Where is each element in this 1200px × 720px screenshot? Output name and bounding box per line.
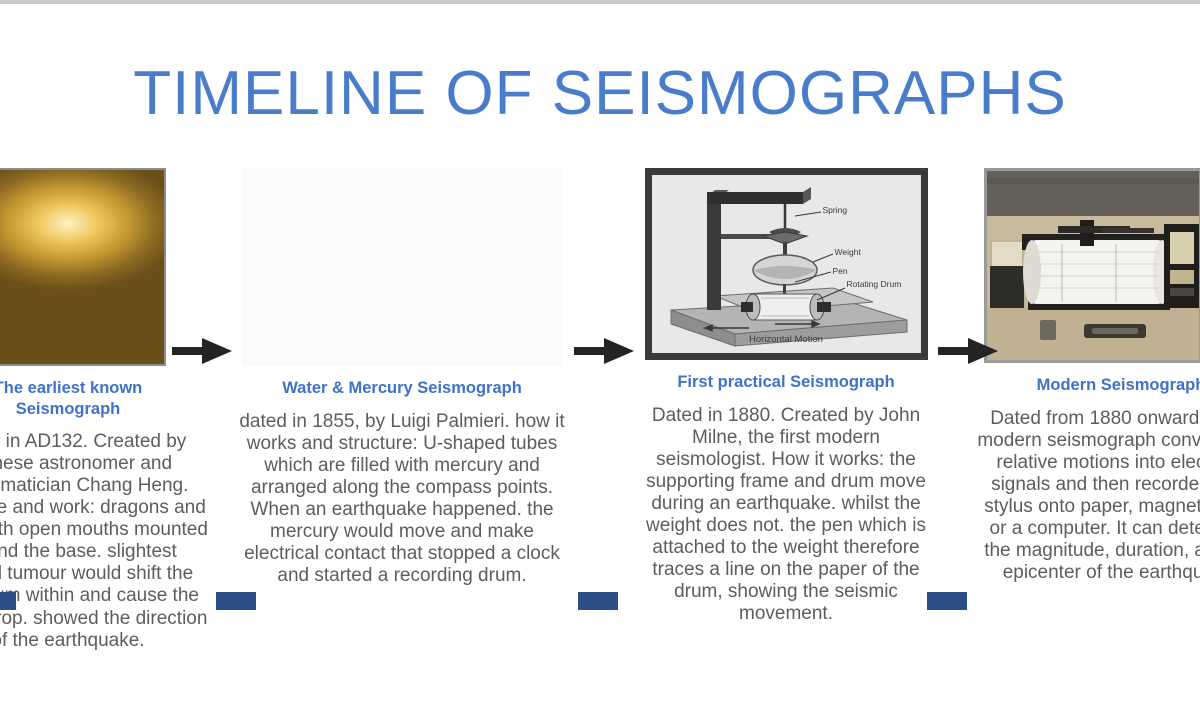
connector-block-2 <box>578 592 618 610</box>
arrow-right-icon-2 <box>574 336 636 366</box>
diagram-label-pen: Pen <box>833 266 848 276</box>
top-grey-bar <box>0 0 1200 4</box>
timeline-panel-modern-seismograph: Modern Seismograph Dated from 1880 onwar… <box>976 168 1200 584</box>
panel-body-text: Dated in 1880. Created by John Milne, th… <box>640 405 932 625</box>
arrow-right-icon-1 <box>172 336 234 366</box>
connector-block-1 <box>216 592 256 610</box>
milne-diagram-illustration <box>645 168 928 360</box>
diagram-caption-horizontal-motion: Horizontal Motion <box>645 334 928 345</box>
connector-block-0 <box>0 592 16 610</box>
modern-drum-seismograph-photo <box>984 168 1200 363</box>
drum-seismograph-illustration <box>984 168 1200 363</box>
diagram-label-weight: Weight <box>835 247 861 257</box>
palmieri-apparatus-engraving <box>242 168 562 366</box>
panel-title: Modern Seismograph <box>976 375 1200 396</box>
panel-body-text: dated in 1855, by Luigi Palmieri. how it… <box>232 411 572 587</box>
panel-body-text: Dated in AD132. Created by Chinese astro… <box>0 431 208 651</box>
timeline-slide: TIMELINE OF SEISMOGRAPHS <box>0 0 1200 720</box>
timeline-panel-water-mercury-seismograph: Water & Mercury Seismograph dated in 185… <box>232 168 572 587</box>
milne-seismograph-diagram: Spring Weight Pen Rotating Drum Horizont… <box>645 168 928 360</box>
timeline-panel-earliest-known-seismograph: The earliest known Seismograph Dated in … <box>0 168 208 652</box>
panel-body-text: Dated from 1880 onwards. The modern seis… <box>976 408 1200 584</box>
arrow-right-icon-3 <box>938 336 1000 366</box>
page-title: TIMELINE OF SEISMOGRAPHS <box>0 58 1200 129</box>
chinese-bronze-seismograph-photo <box>0 168 166 366</box>
photo-frame <box>0 168 166 366</box>
timeline-panel-first-practical-seismograph: Spring Weight Pen Rotating Drum Horizont… <box>640 168 932 625</box>
diagram-label-spring: Spring <box>823 205 848 215</box>
panel-title: The earliest known Seismograph <box>0 378 208 419</box>
panel-title: Water & Mercury Seismograph <box>232 378 572 399</box>
connector-block-3 <box>927 592 967 610</box>
panel-title: First practical Seismograph <box>640 372 932 393</box>
diagram-label-rotating-drum: Rotating Drum <box>847 280 903 290</box>
engraving-backdrop <box>242 168 562 366</box>
